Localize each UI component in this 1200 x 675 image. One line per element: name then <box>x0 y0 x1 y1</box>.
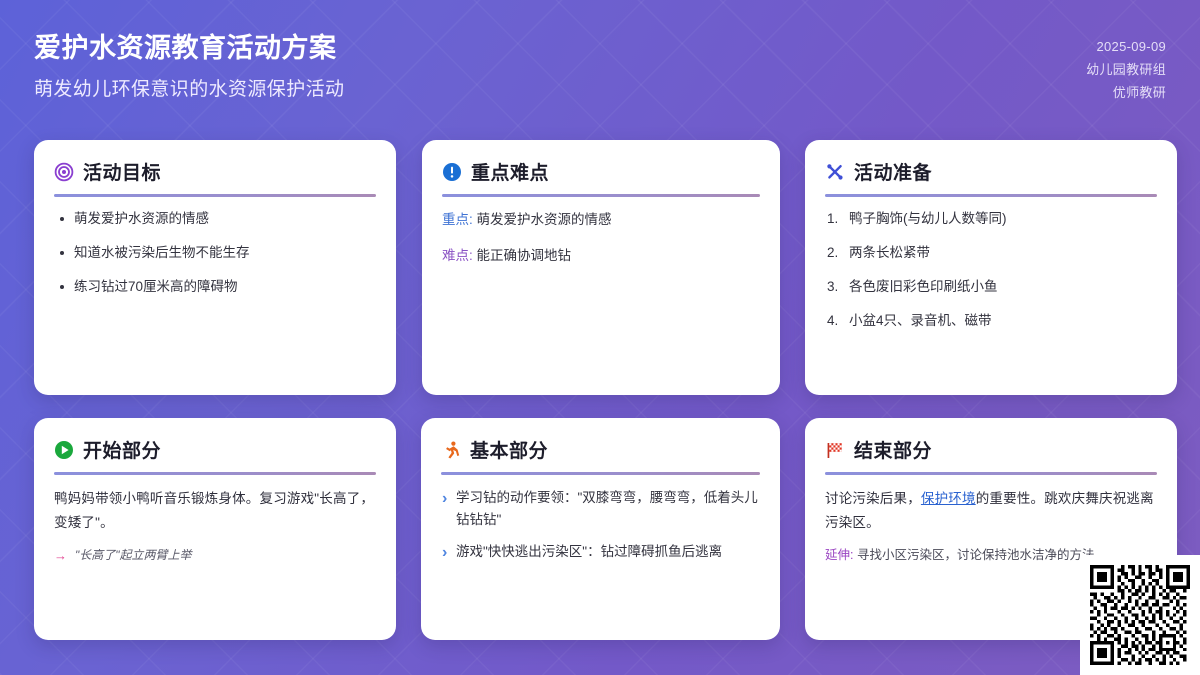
closing-paragraph: 讨论污染后果，保护环境的重要性。跳欢庆舞庆祝逃离污染区。 <box>825 487 1157 534</box>
meta-date: 2025-09-09 <box>1086 36 1166 59</box>
opening-paragraph: 鸭妈妈带领小鸭听音乐锻炼身体。复习游戏"长高了，变矮了"。 <box>54 487 376 534</box>
play-circle-icon <box>54 440 74 460</box>
card-title: 开始部分 <box>83 436 161 463</box>
key-point-row: 重点: 萌发爱护水资源的情感 <box>442 209 760 231</box>
extension-label: 延伸: <box>825 548 853 562</box>
slide-header: 爱护水资源教育活动方案 萌发幼儿环保意识的水资源保护活动 2025-09-09 … <box>0 0 1200 125</box>
tools-icon <box>825 162 845 182</box>
list-item: 学习钻的动作要领："双膝弯弯，腰弯弯，低着头儿钻钻钻" <box>441 487 760 530</box>
opening-note-text: "长高了"起立两臂上举 <box>75 546 192 564</box>
card-divider <box>54 194 376 197</box>
card-header: 活动准备 <box>825 158 1157 185</box>
card-key-points: 重点难点 重点: 萌发爱护水资源的情感 难点: 能正确协调地钻 <box>422 140 780 395</box>
card-body: 学习钻的动作要领："双膝弯弯，腰弯弯，低着头儿钻钻钻" 游戏"快快逃出污染区"：… <box>441 487 760 563</box>
card-header: 开始部分 <box>54 436 376 463</box>
card-header: 活动目标 <box>54 158 376 185</box>
card-header: 重点难点 <box>442 158 760 185</box>
list-item: 小盆4只、录音机、磁带 <box>825 311 1157 332</box>
card-title: 结束部分 <box>854 436 932 463</box>
list-item: 游戏"快快逃出污染区"：钻过障碍抓鱼后逃离 <box>441 541 760 563</box>
meta-brand: 优师教研 <box>1086 82 1166 105</box>
card-divider <box>825 194 1157 197</box>
list-item: 各色废旧彩色印刷纸小鱼 <box>825 277 1157 298</box>
extension-value: 寻找小区污染区，讨论保持池水洁净的方法 <box>857 548 1095 562</box>
card-main-part: 基本部分 学习钻的动作要领："双膝弯弯，腰弯弯，低着头儿钻钻钻" 游戏"快快逃出… <box>421 418 780 640</box>
checkered-flag-icon <box>825 440 845 460</box>
card-body: 重点: 萌发爱护水资源的情感 难点: 能正确协调地钻 <box>442 209 760 266</box>
card-divider <box>442 194 760 197</box>
key-point-value: 萌发爱护水资源的情感 <box>477 212 612 227</box>
card-divider <box>441 472 760 475</box>
page-subtitle: 萌发幼儿环保意识的水资源保护活动 <box>34 74 344 101</box>
difficult-point-value: 能正确协调地钻 <box>477 248 572 263</box>
meta-org: 幼儿园教研组 <box>1086 59 1166 82</box>
difficult-point-label: 难点: <box>442 248 473 263</box>
card-body: 鸭妈妈带领小鸭听音乐锻炼身体。复习游戏"长高了，变矮了"。 → "长高了"起立两… <box>54 487 376 566</box>
main-part-list: 学习钻的动作要领："双膝弯弯，腰弯弯，低着头儿钻钻钻" 游戏"快快逃出污染区"：… <box>441 487 760 563</box>
protect-environment-link[interactable]: 保护环境 <box>921 491 976 506</box>
runner-icon <box>441 440 461 460</box>
arrow-right-icon: → <box>54 546 67 566</box>
list-item: 萌发爱护水资源的情感 <box>54 209 376 230</box>
key-point-label: 重点: <box>442 212 473 227</box>
card-opening: 开始部分 鸭妈妈带领小鸭听音乐锻炼身体。复习游戏"长高了，变矮了"。 → "长高… <box>34 418 396 640</box>
card-divider <box>825 472 1157 475</box>
exclamation-circle-icon <box>442 162 462 182</box>
objectives-list: 萌发爱护水资源的情感 知道水被污染后生物不能生存 练习钻过70厘米高的障碍物 <box>54 209 376 298</box>
card-body: 鸭子胸饰(与幼儿人数等同) 两条长松紧带 各色废旧彩色印刷纸小鱼 小盆4只、录音… <box>825 209 1157 332</box>
preparation-list: 鸭子胸饰(与幼儿人数等同) 两条长松紧带 各色废旧彩色印刷纸小鱼 小盆4只、录音… <box>825 209 1157 332</box>
meta-block: 2025-09-09 幼儿园教研组 优师教研 <box>1086 28 1166 104</box>
target-icon <box>54 162 74 182</box>
card-header: 基本部分 <box>441 436 760 463</box>
card-body: 讨论污染后果，保护环境的重要性。跳欢庆舞庆祝逃离污染区。 延伸: 寻找小区污染区… <box>825 487 1157 565</box>
list-item: 两条长松紧带 <box>825 243 1157 264</box>
card-title: 基本部分 <box>470 436 548 463</box>
list-item: 知道水被污染后生物不能生存 <box>54 243 376 264</box>
card-title: 活动准备 <box>854 158 932 185</box>
card-header: 结束部分 <box>825 436 1157 463</box>
card-divider <box>54 472 376 475</box>
closing-text-before: 讨论污染后果， <box>825 491 921 506</box>
card-preparation: 活动准备 鸭子胸饰(与幼儿人数等同) 两条长松紧带 各色废旧彩色印刷纸小鱼 小盆… <box>805 140 1177 395</box>
card-title: 活动目标 <box>83 158 161 185</box>
list-item: 鸭子胸饰(与幼儿人数等同) <box>825 209 1157 230</box>
qr-code[interactable] <box>1080 555 1200 675</box>
card-title: 重点难点 <box>471 158 549 185</box>
opening-note: → "长高了"起立两臂上举 <box>54 546 376 566</box>
card-objectives: 活动目标 萌发爱护水资源的情感 知道水被污染后生物不能生存 练习钻过70厘米高的… <box>34 140 396 395</box>
card-grid: 活动目标 萌发爱护水资源的情感 知道水被污染后生物不能生存 练习钻过70厘米高的… <box>34 140 1168 640</box>
list-item: 练习钻过70厘米高的障碍物 <box>54 277 376 298</box>
card-body: 萌发爱护水资源的情感 知道水被污染后生物不能生存 练习钻过70厘米高的障碍物 <box>54 209 376 298</box>
difficult-point-row: 难点: 能正确协调地钻 <box>442 245 760 267</box>
qr-code-image <box>1090 565 1190 665</box>
title-block: 爱护水资源教育活动方案 萌发幼儿环保意识的水资源保护活动 <box>34 28 344 101</box>
page-title: 爱护水资源教育活动方案 <box>34 32 344 64</box>
